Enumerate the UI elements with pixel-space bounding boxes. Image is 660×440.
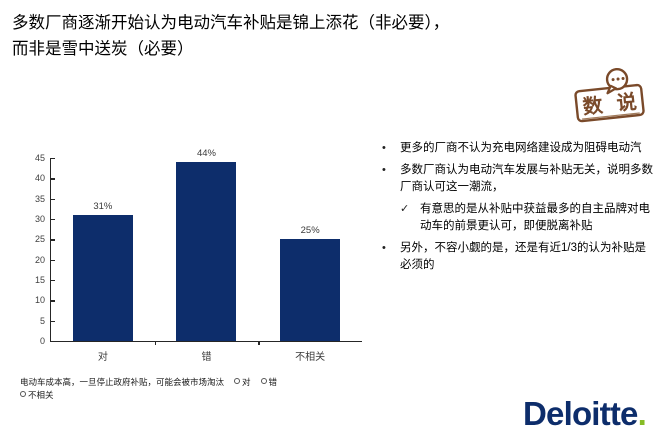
- y-axis-tick-8: 40: [15, 173, 51, 183]
- svg-text:数: 数: [582, 93, 605, 119]
- page-title: 多数厂商逐渐开始认为电动汽车补贴是锦上添花（非必要）， 而非是雪中送炭（必要）: [12, 10, 642, 62]
- y-axis-tick-6: 30: [15, 214, 51, 224]
- legend-marker-icon: [20, 391, 26, 397]
- y-axis-tick-5: 25: [15, 234, 51, 244]
- legend-label-dui: 对: [242, 377, 251, 387]
- bullet-marker-icon: •: [382, 162, 386, 180]
- y-axis-tick-1: 5: [15, 316, 51, 326]
- x-axis-tickmark-2: [258, 341, 259, 345]
- bar-cuo[interactable]: 44%: [176, 162, 236, 341]
- legend-label-cuo: 错: [269, 377, 278, 387]
- x-axis-tickmark-1: [155, 341, 156, 345]
- bullet-item-1: • 更多的厂商不认为充电网络建设成为阻碍电动汽: [378, 140, 656, 158]
- bar-value-label-0: 31%: [93, 201, 112, 212]
- deloitte-green-dot: .: [638, 395, 646, 432]
- chart-plot-area: 0 5 10 15 20 25 30 35 40 45 31% 对 44% 错 …: [50, 158, 362, 342]
- bullet-marker-icon: •: [382, 140, 386, 158]
- y-axis-tick-3: 15: [15, 275, 51, 285]
- legend-marker-icon: [234, 378, 240, 384]
- x-axis-label-1: 错: [201, 348, 211, 363]
- checkmark-icon: ✓: [400, 201, 409, 219]
- legend-label-buxiangguan: 不相关: [28, 390, 54, 400]
- bar-dui[interactable]: 31%: [73, 215, 133, 341]
- chart-legend: 电动车成本高，一旦停止政府补贴，可能会被市场淘汰对错 不相关: [20, 376, 350, 402]
- bullet-marker-icon: •: [382, 240, 386, 258]
- deloitte-logo: Deloitte.: [523, 397, 646, 430]
- legend-item-cuo[interactable]: 错: [261, 376, 278, 389]
- x-axis-label-2: 不相关: [295, 348, 325, 363]
- page-title-line-1: 多数厂商逐渐开始认为电动汽车补贴是锦上添花（非必要），: [12, 10, 642, 36]
- y-axis-tick-4: 20: [15, 255, 51, 265]
- y-axis-tick-7: 35: [15, 194, 51, 204]
- bullet-item-2: • 多数厂商认为电动汽车发展与补贴无关，说明多数厂商认可这一潮流，: [378, 162, 656, 197]
- bar-group-2: 25% 不相关: [258, 158, 362, 341]
- bullet-item-3: ✓ 有意思的是从补贴中获益最多的自主品牌对电动车的前景更认可，即便脱离补贴: [378, 201, 656, 236]
- bullet-text-2: 多数厂商认为电动汽车发展与补贴无关，说明多数厂商认可这一潮流，: [400, 164, 653, 194]
- page-title-line-2: 而非是雪中送炭（必要）: [12, 36, 642, 62]
- y-axis-tick-9: 45: [15, 153, 51, 163]
- bar-group-0: 31% 对: [51, 158, 155, 341]
- bar-value-label-1: 44%: [197, 148, 216, 159]
- x-axis-label-0: 对: [98, 348, 108, 363]
- legend-item-dui[interactable]: 对: [234, 376, 251, 389]
- bullet-text-1: 更多的厂商不认为充电网络建设成为阻碍电动汽: [400, 142, 642, 154]
- bullet-text-4: 另外，不容小觑的是，还是有近1/3的认为补贴是必须的: [400, 242, 646, 272]
- svg-text:说: 说: [615, 89, 637, 115]
- shushuo-watermark-logo: 数 说: [562, 66, 658, 130]
- bullet-item-4: • 另外，不容小觑的是，还是有近1/3的认为补贴是必须的: [378, 240, 656, 275]
- bar-group-1: 44% 错: [155, 158, 259, 341]
- legend-marker-icon: [261, 378, 267, 384]
- shushuo-stamp-icon: 数 说: [562, 66, 658, 130]
- bar-chart: 0 5 10 15 20 25 30 35 40 45 31% 对 44% 错 …: [14, 150, 366, 370]
- bar-value-label-2: 25%: [301, 225, 320, 236]
- commentary-bullet-list: • 更多的厂商不认为充电网络建设成为阻碍电动汽 • 多数厂商认为电动汽车发展与补…: [378, 140, 656, 279]
- bar-buxiangguan[interactable]: 25%: [280, 239, 340, 341]
- y-axis-tick-2: 10: [15, 295, 51, 305]
- chart-question-text: 电动车成本高，一旦停止政府补贴，可能会被市场淘汰: [20, 377, 224, 387]
- deloitte-wordmark: Deloitte: [523, 395, 638, 432]
- y-axis-tick-0: 0: [15, 336, 51, 346]
- legend-item-buxiangguan[interactable]: 不相关: [20, 389, 54, 402]
- bullet-text-3: 有意思的是从补贴中获益最多的自主品牌对电动车的前景更认可，即便脱离补贴: [420, 203, 650, 233]
